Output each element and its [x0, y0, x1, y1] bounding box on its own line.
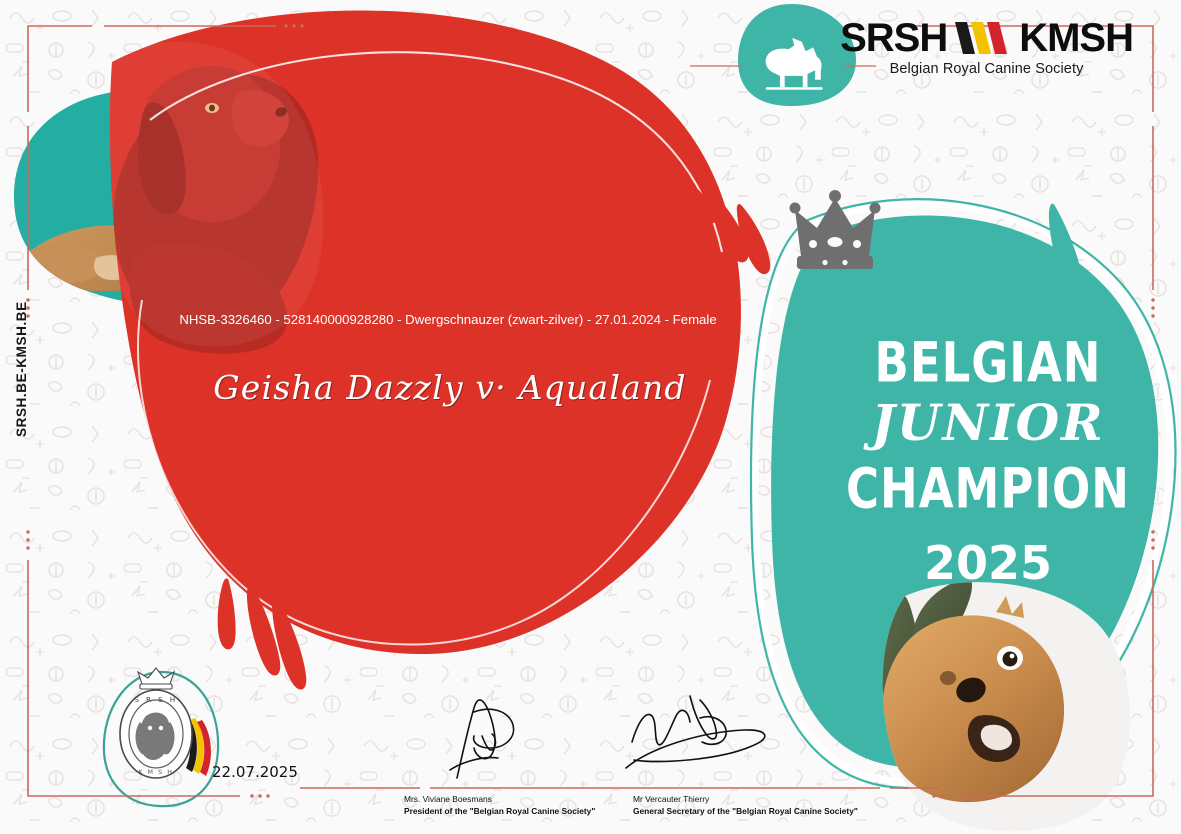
srsh-kmsh-logo: SRSH KMSH Belgian Royal Canine Society — [840, 18, 1133, 77]
award-year: 2025 — [838, 536, 1138, 590]
signature-caption-secretary: Mr Vercauter Thierry General Secretary o… — [633, 793, 858, 817]
secretary-role: General Secretary of the "Belgian Royal … — [633, 805, 858, 817]
signature-caption-president: Mrs. Viviane Boesmans President of the "… — [404, 793, 595, 817]
award-title-block: BELGIAN JUNIOR CHAMPION 2025 — [838, 340, 1138, 590]
award-line-belgian: BELGIAN — [838, 335, 1138, 391]
president-role: President of the "Belgian Royal Canine S… — [404, 805, 595, 817]
issue-date: 22.07.2025 — [212, 763, 298, 781]
signature-secretary — [626, 696, 765, 768]
logo-subtitle: Belgian Royal Canine Society — [840, 61, 1133, 77]
logo-word-kmsh: KMSH — [1019, 18, 1133, 58]
registration-line: NHSB-3326460 - 528140000928280 - Dwergsc… — [158, 310, 738, 330]
srsh-kmsh-seal: S R S H K M S H — [104, 668, 218, 806]
signature-president — [450, 700, 514, 778]
svg-text:S R S H: S R S H — [134, 695, 177, 704]
secretary-name: Mr Vercauter Thierry — [633, 793, 858, 805]
certificate-page: S R S H K M S H — [0, 0, 1181, 834]
crown-icon — [790, 190, 881, 269]
logo-word-srsh: SRSH — [840, 18, 947, 58]
logo-wordmark-row: SRSH KMSH — [840, 18, 1133, 58]
website-vertical-label: SRSH.BE-KMSH.BE — [14, 301, 29, 437]
dog-name: Geisha Dazzly v· Aqualand — [130, 368, 770, 407]
belgian-flag-icon — [953, 21, 1013, 55]
svg-text:K M S H: K M S H — [138, 769, 173, 776]
dog-badge-blob — [738, 4, 856, 106]
award-line-champion: CHAMPION — [838, 461, 1138, 517]
award-line-junior: JUNIOR — [838, 398, 1138, 448]
president-name: Mrs. Viviane Boesmans — [404, 793, 595, 805]
